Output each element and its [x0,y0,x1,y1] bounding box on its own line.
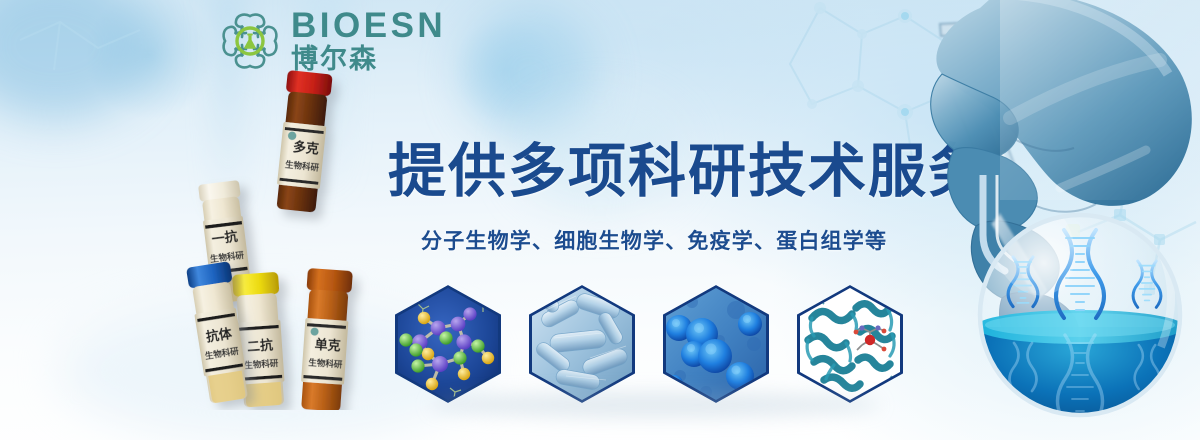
brand-logo-text: BIOESN 博尔森 [291,8,446,73]
vial-monoclonal: 单克 生物科研 [298,268,353,410]
hex-molecule-structure[interactable] [395,285,501,403]
vial-polyclonal: 多克 生物科研 [273,70,332,213]
antibody-vials-group: 一抗 生物科研 多克 生物科研 [180,70,410,410]
page-subtitle: 分子生物学、细胞生物学、免疫学、蛋白组学等 [421,225,887,255]
bg-blob-top-left [0,0,150,120]
banner-root: BIOESN 博尔森 [0,0,1200,440]
hex-cell-culture[interactable] [663,285,769,403]
brand-name-en: BIOESN [291,8,446,43]
flask-in-circle-swirl-logo-icon [218,9,282,73]
hex-bacteria-micrograph[interactable] [529,285,635,403]
round-bottom-flask-with-blue-liquid-and-dna [975,175,1200,440]
svg-text:单克: 单克 [314,337,341,355]
service-hex-row [395,285,903,403]
svg-text:二抗: 二抗 [247,337,274,355]
svg-text:一抗: 一抗 [211,229,239,248]
bg-blob-circle-right [465,10,595,140]
brand-logo[interactable]: BIOESN 博尔森 [218,8,446,73]
brand-name-cn: 博尔森 [291,46,446,73]
svg-text:多克: 多克 [292,139,320,158]
